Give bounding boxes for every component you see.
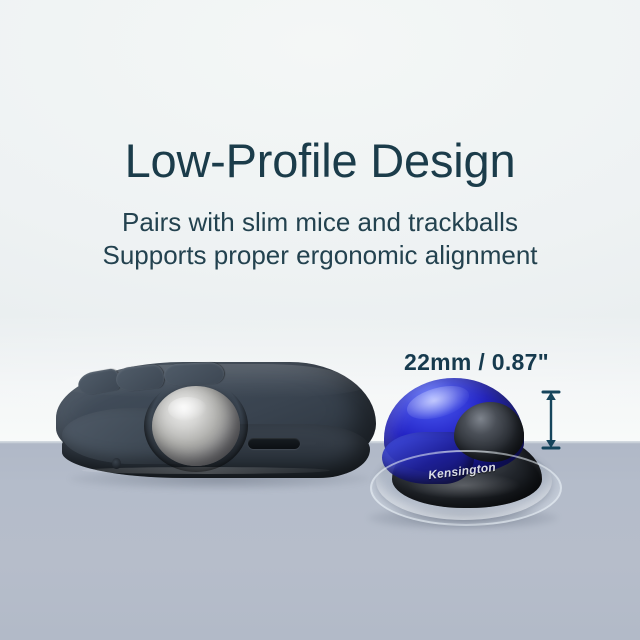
product-feature-image: Low-Profile Design Pairs with slim mice …	[0, 0, 640, 640]
subtitle-line-2: Supports proper ergonomic alignment	[0, 239, 640, 272]
vertical-double-arrow-icon	[538, 389, 564, 451]
page-title: Low-Profile Design	[0, 136, 640, 185]
mouse-indicator-strip	[248, 438, 300, 449]
wrist-rest-clear-lip	[370, 450, 562, 526]
mouse-port	[112, 458, 121, 469]
trackball-mouse	[56, 362, 376, 487]
mouse-button-2	[115, 364, 165, 393]
mouse-trackball	[152, 386, 240, 466]
dimension-label: 22mm / 0.87"	[404, 349, 574, 376]
subtitle-line-1: Pairs with slim mice and trackballs	[0, 206, 640, 239]
gel-wrist-rest: Kensington	[366, 376, 558, 526]
